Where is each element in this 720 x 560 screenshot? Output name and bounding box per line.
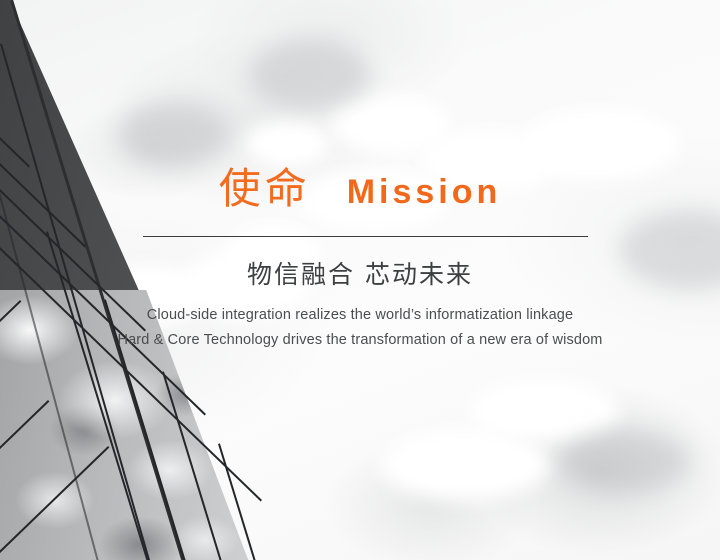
tagline-block: Cloud-side integration realizes the worl… [0, 303, 720, 353]
subtitle-chinese: 物信融合 芯动未来 [0, 258, 720, 292]
mission-content: 使命 Mission 物信融合 芯动未来 Cloud-side integrat… [0, 0, 720, 560]
mission-slide: 使命 Mission 物信融合 芯动未来 Cloud-side integrat… [0, 0, 720, 560]
page-title: 使命 Mission [0, 168, 720, 210]
page-title-chinese: 使命 [219, 168, 311, 210]
title-divider [143, 236, 588, 237]
tagline-line-1: Cloud-side integration realizes the worl… [0, 303, 720, 328]
tagline-line-2: Hard & Core Technology drives the transf… [0, 328, 720, 353]
page-title-english: Mission [347, 175, 502, 209]
